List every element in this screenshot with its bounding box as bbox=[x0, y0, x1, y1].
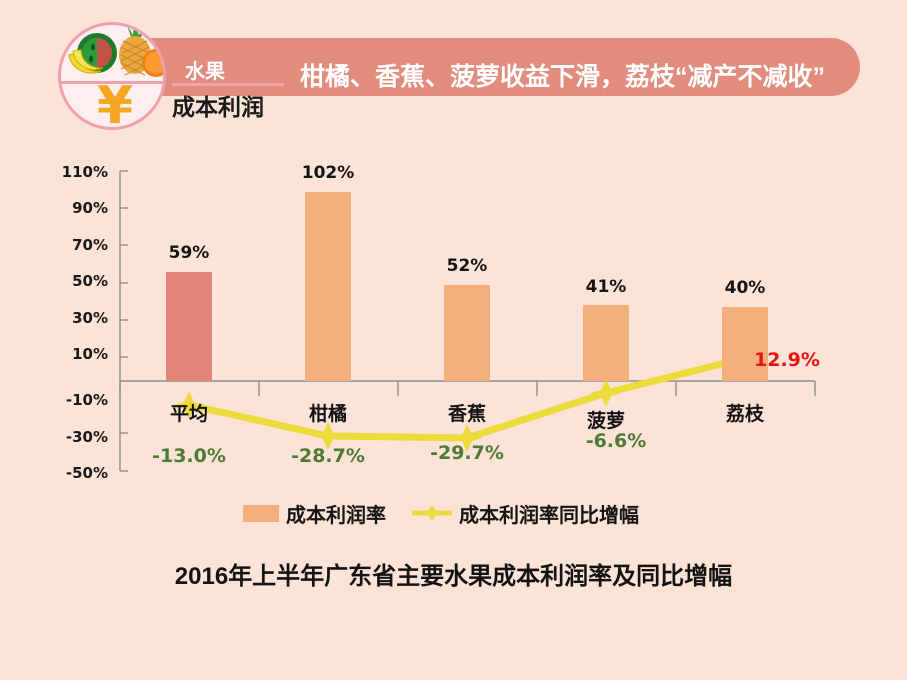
line-value-lychee: 12.9% bbox=[754, 349, 844, 371]
y-axis-label: -50% bbox=[56, 464, 108, 482]
x-axis-category-lychee: 荔枝 bbox=[690, 399, 800, 426]
x-axis-category-banana: 香蕉 bbox=[412, 399, 522, 426]
legend-label-bar: 成本利润率 bbox=[286, 499, 386, 528]
bar-value-citrus: 102% bbox=[283, 163, 373, 183]
x-axis-category-citrus: 柑橘 bbox=[273, 399, 383, 426]
y-axis-label: -10% bbox=[56, 391, 108, 409]
bar-citrus bbox=[305, 192, 351, 381]
y-axis-ticks bbox=[120, 171, 128, 471]
y-axis-label: 110% bbox=[56, 163, 108, 181]
legend-line-marker-icon bbox=[412, 504, 452, 522]
y-axis-label: 30% bbox=[56, 309, 108, 327]
y-axis-label: 70% bbox=[56, 236, 108, 254]
bar-value-banana: 52% bbox=[422, 256, 512, 276]
line-value-banana: -29.7% bbox=[412, 442, 522, 464]
y-axis-label: 90% bbox=[56, 199, 108, 217]
y-axis-label: -30% bbox=[56, 428, 108, 446]
chart-legend: 成本利润率 成本利润率同比增幅 bbox=[243, 500, 639, 526]
chart-bottom-title: 2016年上半年广东省主要水果成本利润率及同比增幅 bbox=[0, 556, 907, 591]
bar-average bbox=[166, 272, 212, 381]
y-axis-label: 10% bbox=[56, 345, 108, 363]
legend-swatch-bar-icon bbox=[243, 505, 279, 522]
line-value-citrus: -28.7% bbox=[273, 445, 383, 467]
y-axis-label: 50% bbox=[56, 272, 108, 290]
bar-value-pineapple: 41% bbox=[561, 277, 651, 297]
line-value-average: -13.0% bbox=[134, 445, 244, 467]
legend-item-bar[interactable]: 成本利润率 bbox=[243, 499, 386, 528]
bar-value-average: 59% bbox=[144, 243, 234, 263]
bar-pineapple bbox=[583, 305, 629, 381]
bar-value-lychee: 40% bbox=[700, 278, 790, 298]
bar-banana bbox=[444, 285, 490, 381]
legend-item-line[interactable]: 成本利润率同比增幅 bbox=[412, 499, 639, 528]
x-axis-category-ticks bbox=[120, 381, 815, 396]
x-axis-category-pineapple: 菠萝 bbox=[551, 406, 661, 433]
x-axis-category-average: 平均 bbox=[134, 399, 244, 426]
line-value-pineapple: -6.6% bbox=[561, 430, 671, 452]
legend-label-line: 成本利润率同比增幅 bbox=[459, 499, 639, 528]
